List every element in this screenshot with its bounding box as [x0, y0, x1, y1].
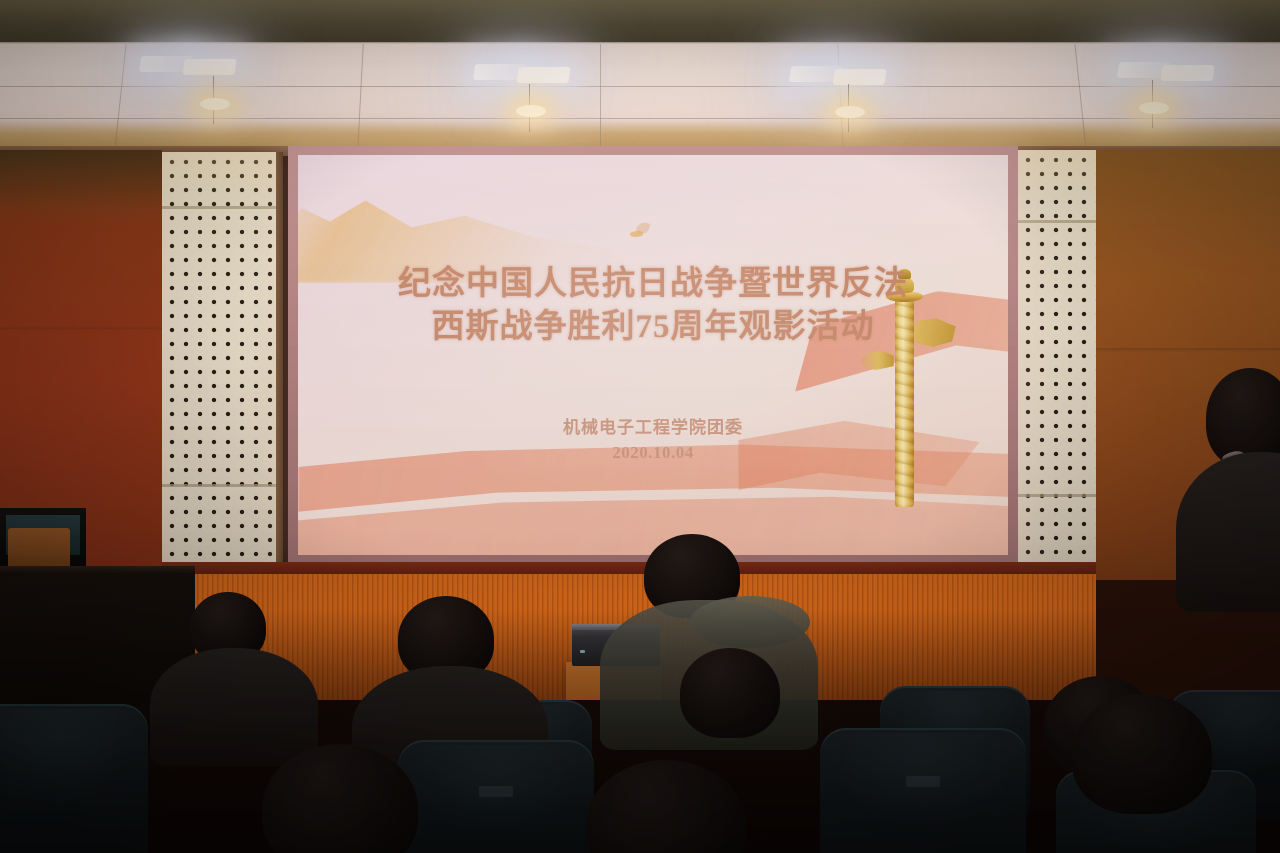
ceiling-panel-light	[832, 69, 886, 85]
auditorium-scene: 纪念中国人民抗日战争暨世界反法 西斯战争胜利75周年观影活动 机械电子工程学院团…	[0, 0, 1280, 853]
slide-organization: 机械电子工程学院团委	[298, 415, 1008, 441]
ceiling-downlight	[200, 98, 230, 110]
seat-number-plate	[479, 786, 513, 797]
slide-title-line-2: 西斯战争胜利75周年观影活动	[298, 306, 1008, 349]
ceiling-grid-line	[600, 44, 601, 150]
seat[interactable]	[0, 704, 148, 853]
left-wall	[0, 150, 162, 570]
seat-number-plate	[906, 776, 940, 787]
projection-screen: 纪念中国人民抗日战争暨世界反法 西斯战争胜利75周年观影活动 机械电子工程学院团…	[298, 155, 1008, 555]
hoodie-hood	[690, 596, 810, 648]
seat[interactable]	[820, 728, 1026, 853]
ceiling-panel-light	[1160, 65, 1214, 81]
slide-title: 纪念中国人民抗日战争暨世界反法 西斯战争胜利75周年观影活动	[298, 263, 1008, 349]
audience-shoulders	[150, 648, 318, 766]
ceiling-panel-light	[516, 67, 570, 83]
ceiling-panel-light	[182, 59, 236, 75]
audience-head	[1072, 694, 1212, 814]
slide-date: 2020.10.04	[298, 441, 1008, 465]
seat[interactable]	[398, 740, 594, 853]
ceiling-grid-line	[0, 118, 1280, 119]
projection-screen-frame: 纪念中国人民抗日战争暨世界反法 西斯战争胜利75周年观影活动 机械电子工程学院团…	[288, 146, 1018, 562]
ceiling	[0, 0, 1280, 150]
ceiling-downlight	[1139, 102, 1169, 114]
ceiling-beam	[0, 0, 1280, 42]
device-power-led	[580, 650, 585, 653]
dove-motif-icon	[628, 223, 654, 243]
ceiling-downlight	[516, 105, 546, 117]
audience-head	[680, 648, 780, 738]
slide-title-line-1: 纪念中国人民抗日战争暨世界反法	[298, 263, 1008, 306]
ceiling-downlight	[835, 106, 865, 118]
slide-subtitle: 机械电子工程学院团委 2020.10.04	[298, 415, 1008, 464]
ceiling-grid-line	[0, 86, 1280, 87]
